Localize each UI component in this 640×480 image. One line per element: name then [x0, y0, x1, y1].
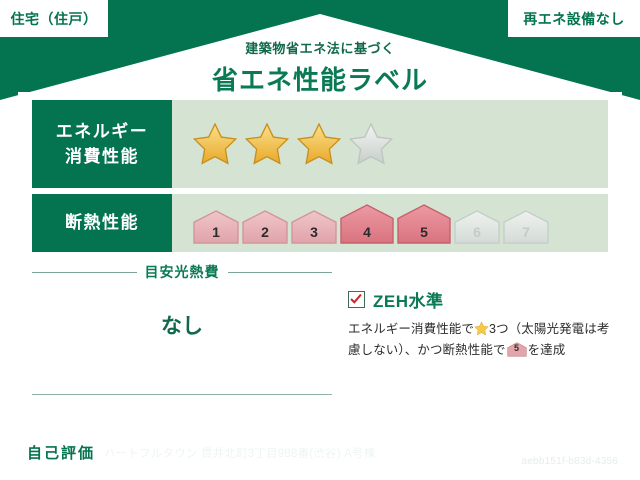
energy-performance-row: エネルギー 消費性能 — [32, 100, 608, 188]
title-main: 省エネ性能ラベル — [0, 60, 640, 97]
star-icon-empty — [348, 121, 394, 167]
title-subtitle: 建築物省エネ法に基づく — [0, 38, 640, 57]
zeh-description: エネルギー消費性能で3つ（太陽光発電は考慮しない）、かつ断熱性能で5を達成 — [348, 319, 610, 360]
energy-performance-label-box: エネルギー 消費性能 — [32, 100, 172, 188]
insulation-grade-value: 7 — [502, 224, 550, 240]
utility-cost-title: 目安光熱費 — [32, 262, 332, 282]
insulation-grade-value: 6 — [453, 224, 501, 240]
energy-performance-label: 住宅（住戸） 再エネ設備なし 建築物省エネ法に基づく 省エネ性能ラベル エネルギ… — [0, 0, 640, 480]
utility-cost-block: 目安光熱費 なし — [32, 262, 332, 340]
insulation-grade-value: 5 — [396, 224, 452, 240]
insulation-performance-label-box: 断熱性能 — [32, 194, 172, 252]
insulation-grade-value: 1 — [192, 224, 240, 240]
insulation-label: 断熱性能 — [65, 210, 139, 236]
zeh-checkbox-icon — [348, 291, 365, 308]
utility-cost-value: なし — [32, 310, 332, 340]
zeh-desc-stars: 3つ（太陽光発電 — [489, 322, 584, 336]
zeh-standard-block: ZEH水準 エネルギー消費性能で3つ（太陽光発電は考慮しない）、かつ断熱性能で5… — [348, 287, 610, 360]
insulation-grade-value: 2 — [241, 224, 289, 240]
insulation-grade-badge: 5 — [396, 202, 452, 244]
zeh-desc-part1: エネルギー消費性能で — [348, 322, 474, 336]
label-card: エネルギー 消費性能 断熱性能 1234567 目安光熱費 なし — [18, 92, 622, 426]
insulation-grade-badge: 2 — [241, 202, 289, 244]
insulation-badge-inline-value: 5 — [507, 341, 527, 356]
renewable-energy-tag: 再エネ設備なし — [508, 0, 640, 37]
zeh-desc-part3: を達成 — [528, 343, 566, 357]
building-type-tag: 住宅（住戸） — [0, 0, 108, 37]
insulation-grade-value: 4 — [339, 224, 395, 240]
star-icon-filled — [296, 121, 342, 167]
star-icon-filled — [244, 121, 290, 167]
star-icon-filled — [192, 121, 238, 167]
evaluation-date: 評価日 2025年6月20日 — [482, 436, 618, 455]
self-evaluation-tag: 自己評価 — [18, 438, 104, 467]
star-icon-inline — [474, 321, 489, 336]
insulation-scale-body: 1234567 — [172, 194, 608, 252]
evaluation-id: aebb151f-b83d-4356 — [522, 456, 618, 467]
insulation-badge-inline: 5 — [507, 342, 527, 357]
insulation-grade-badge: 6 — [453, 202, 501, 244]
insulation-grade-badge: 3 — [290, 202, 338, 244]
insulation-grade-scale: 1234567 — [192, 202, 550, 244]
insulation-performance-row: 断熱性能 1234567 — [32, 194, 608, 252]
energy-label-line2: 消費性能 — [65, 144, 139, 170]
star-rating — [172, 100, 608, 188]
insulation-grade-badge: 4 — [339, 202, 395, 244]
page-title: 建築物省エネ法に基づく 省エネ性能ラベル — [0, 38, 640, 97]
zeh-header: ZEH水準 — [348, 287, 610, 312]
insulation-grade-value: 3 — [290, 224, 338, 240]
insulation-grade-badge: 1 — [192, 202, 240, 244]
cost-divider — [32, 394, 332, 395]
insulation-grade-badge: 7 — [502, 202, 550, 244]
energy-label-line1: エネルギー — [56, 119, 149, 145]
zeh-title: ZEH水準 — [373, 287, 444, 312]
property-name: ハートフルタウン 貫井北町3丁目988番(渋谷) A号棟 — [104, 445, 375, 461]
footer: 自己評価 ハートフルタウン 貫井北町3丁目988番(渋谷) A号棟 評価日 20… — [0, 426, 640, 480]
